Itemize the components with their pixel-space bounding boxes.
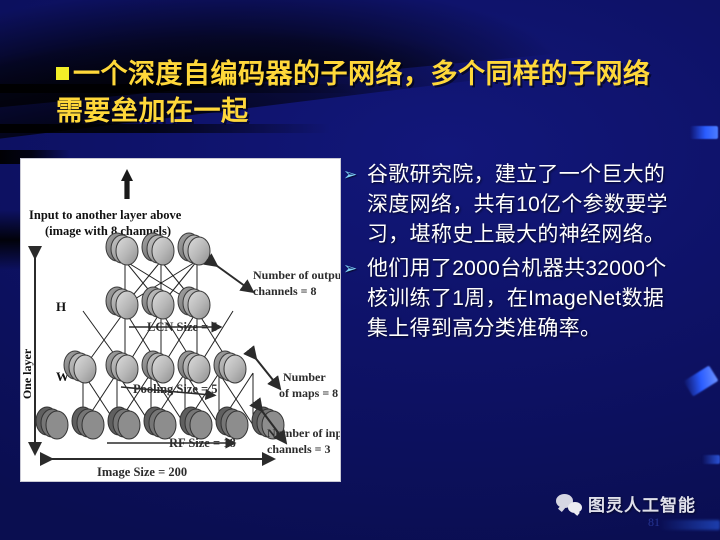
list-item-text: 他们用了2000台机器共32000个核训练了1周，在ImageNet数据集上得到… <box>367 254 672 344</box>
watermark: 图灵人工智能 <box>556 491 696 516</box>
slide-title-text: 一个深度自编码器的子网络，多个同样的子网络需要垒加在一起 <box>56 59 651 126</box>
figure-caption-line1: Input to another layer above <box>29 208 182 222</box>
decor-band-4 <box>0 210 22 270</box>
figure-label-h: H <box>56 299 66 314</box>
arrow-bullet-icon: ➢ <box>340 160 367 190</box>
figure-label-input-channels-2: channels = 3 <box>267 442 331 456</box>
list-item: ➢ 他们用了2000台机器共32000个核训练了1周，在ImageNet数据集上… <box>340 254 690 344</box>
title-bullet-square <box>56 67 69 80</box>
network-diagram-figure: Input to another layer above (image with… <box>20 158 341 482</box>
decor-accent-bottom <box>660 520 720 530</box>
figure-label-input-channels-1: Number of input <box>267 426 341 440</box>
watermark-label: 图灵人工智能 <box>588 491 696 516</box>
decor-accent-right-1 <box>690 126 718 139</box>
decor-accent-right-2 <box>684 365 719 396</box>
figure-label-image-size: Image Size = 200 <box>97 465 187 479</box>
figure-label-output-channels-2: channels = 8 <box>253 284 317 298</box>
figure-label-rf: RF Size = 18 <box>169 436 236 450</box>
figure-label-maps-1: Number <box>283 370 326 384</box>
decor-accent-right-3 <box>702 455 720 464</box>
list-item-text: 谷歌研究院，建立了一个巨大的深度网络，共有10亿个参数要学习，堪称史上最大的神经… <box>367 160 672 250</box>
neuron-row-2 <box>106 287 210 319</box>
bullet-list: ➢ 谷歌研究院，建立了一个巨大的深度网络，共有10亿个参数要学习，堪称史上最大的… <box>340 160 690 348</box>
figure-label-output-channels-1: Number of output <box>253 268 341 282</box>
figure-label-lcn: LCN Size = 5 <box>147 320 218 334</box>
slide: 一个深度自编码器的子网络，多个同样的子网络需要垒加在一起 <box>0 0 720 540</box>
page-number: 81 <box>648 515 660 530</box>
figure-label-pooling: Pooling Size = 5 <box>133 382 218 396</box>
list-item: ➢ 谷歌研究院，建立了一个巨大的深度网络，共有10亿个参数要学习，堪称史上最大的… <box>340 160 690 250</box>
figure-label-maps-2: of maps = 8 <box>279 386 338 400</box>
figure-label-one-layer: One layer <box>21 348 34 399</box>
wechat-icon <box>556 494 582 513</box>
slide-title: 一个深度自编码器的子网络，多个同样的子网络需要垒加在一起 <box>56 56 676 130</box>
arrow-bullet-icon: ➢ <box>340 254 367 284</box>
neuron-row-output <box>106 233 210 265</box>
